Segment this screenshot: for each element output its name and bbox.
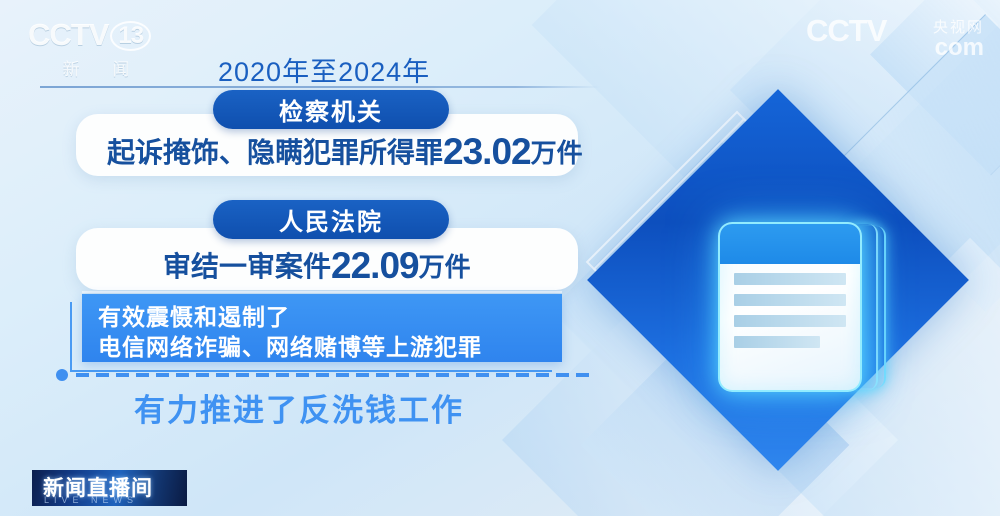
cctv-brand-text: CCTV [28, 17, 108, 52]
tagline-text: 有力推进了反洗钱工作 [134, 385, 464, 430]
cctv13-logo-wordmark: CCTV13 [28, 18, 178, 52]
status-badge: 人民法院 [213, 200, 449, 239]
document-card-icon [718, 222, 868, 392]
stat-value-row: 起诉掩饰、隐瞒犯罪所得罪23.02万件 [107, 131, 583, 173]
document-icon [718, 222, 862, 392]
broadcast-graphic-screen: CCTV13 新 闻 CCTV 央视网 com 2020年至2024年 检察机关… [0, 0, 1000, 516]
document-header-bar [720, 224, 860, 264]
dashed-separator [56, 369, 591, 381]
document-text-line [734, 315, 846, 327]
document-text-line [734, 294, 846, 306]
background-diamond-shape [870, 0, 1000, 176]
stat-label: 审结一审案件 [163, 251, 331, 282]
stat-number: 22.09 [331, 245, 419, 286]
live-program-banner: 新闻直播间 LIVE NEWS [32, 470, 187, 506]
page-title: 2020年至2024年 [218, 50, 430, 89]
cctv-com-watermark: CCTV 央视网 com [806, 14, 986, 62]
document-text-line [734, 273, 846, 285]
watermark-domain-text: com [935, 34, 984, 62]
channel-number: 13 [110, 21, 151, 51]
callout-top-accent [82, 291, 562, 293]
watermark-brand-text: CCTV [806, 14, 986, 48]
dashed-line [76, 373, 591, 377]
callout-line-2: 电信网络诈骗、网络赌博等上游犯罪 [98, 332, 562, 362]
stat-unit: 万件 [419, 252, 471, 282]
callout-box: 有效震慑和遏制了 电信网络诈骗、网络赌博等上游犯罪 [82, 294, 562, 362]
watermark-cn-text: 央视网 [933, 16, 984, 37]
bullet-dot-icon [56, 369, 68, 381]
cctv13-logo-subtitle: 新 闻 [28, 55, 178, 80]
stat-unit: 万件 [531, 138, 583, 168]
program-name-en: LIVE NEWS [44, 495, 138, 505]
status-badge: 检察机关 [213, 90, 449, 129]
stat-label: 起诉掩饰、隐瞒犯罪所得罪 [107, 137, 443, 168]
document-text-line [734, 336, 820, 348]
stat-value-row: 审结一审案件22.09万件 [163, 245, 471, 287]
callout-line-1: 有效震慑和遏制了 [98, 302, 562, 332]
cctv13-logo: CCTV13 新 闻 [28, 18, 178, 80]
stat-number: 23.02 [443, 131, 531, 172]
